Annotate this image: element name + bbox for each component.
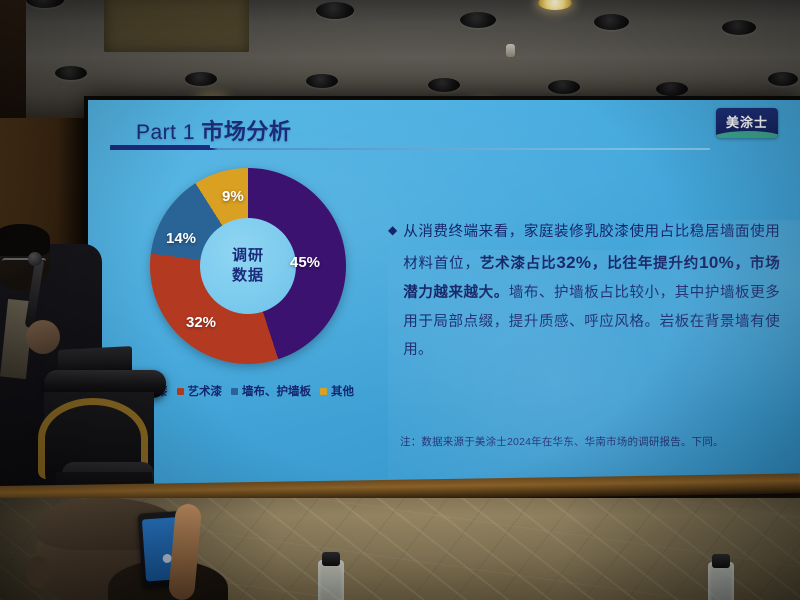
legend-item: 墙布、护墙板 — [231, 383, 311, 399]
legend-swatch-icon — [320, 388, 327, 395]
slice-label-1: 32% — [186, 314, 216, 331]
downlight-icon — [26, 0, 64, 8]
downlight-icon — [428, 78, 460, 92]
body-text-segment: 比往年提升约 — [607, 256, 699, 272]
ceiling-access-panel — [104, 0, 249, 52]
ceiling-edge-left — [0, 0, 26, 128]
body-text-segment: ， — [591, 256, 607, 272]
downlight-icon — [460, 12, 496, 28]
speaker-hand — [26, 320, 60, 354]
logo-swoosh-icon — [716, 131, 778, 138]
downlight-icon — [316, 2, 354, 19]
legend-label: 墙布、护墙板 — [242, 383, 311, 399]
bottle-cap — [322, 552, 340, 566]
downlight-icon — [594, 14, 629, 30]
bullet-diamond-icon: ◆ — [388, 221, 397, 364]
downlight-icon — [55, 66, 87, 80]
microphone-head-icon — [28, 252, 42, 266]
slice-label-3: 9% — [222, 188, 244, 205]
legend-item: 其他 — [320, 383, 354, 399]
downlight-icon — [538, 0, 572, 10]
downlight-icon — [722, 20, 756, 35]
body-text-block: ◆ 从消费终端来看，家庭装修乳胶漆使用占比稳居墙面使用材料首位，艺术漆占比32%… — [388, 218, 780, 364]
page-title-part: Part 1 — [136, 121, 195, 144]
donut-center-label: 调研 数据 — [200, 218, 296, 314]
page-title-cn: 市场分析 — [201, 119, 291, 144]
brand-logo: 美涂士 — [716, 108, 778, 138]
body-text-segment: 10% — [699, 253, 734, 272]
body-text-segment: 艺术漆占比 — [480, 256, 557, 272]
title-underline-accent — [110, 145, 210, 150]
speaker-hair — [0, 224, 50, 256]
body-text-segment: 32% — [556, 253, 591, 272]
water-bottle — [318, 560, 344, 600]
legend-item: 艺术漆 — [177, 383, 223, 399]
downlight-icon — [656, 82, 688, 96]
slice-label-0: 45% — [290, 254, 320, 271]
donut-center-line-1: 调研 — [232, 246, 264, 266]
audience-ear — [26, 556, 50, 588]
downlight-icon — [185, 72, 217, 86]
page-title: Part 1 市场分析 — [136, 114, 291, 146]
logo-text: 美涂士 — [716, 112, 778, 131]
downlight-icon — [768, 72, 798, 86]
downlight-icon — [548, 80, 580, 94]
body-paragraph: 从消费终端来看，家庭装修乳胶漆使用占比稳居墙面使用材料首位，艺术漆占比32%，比… — [403, 218, 780, 364]
donut-chart: 调研 数据 45% 32% 14% 9% — [150, 168, 346, 364]
legend-label: 其他 — [331, 383, 354, 399]
legend-label: 艺术漆 — [188, 383, 223, 399]
legend-swatch-icon — [177, 388, 184, 395]
projection-screen: Part 1 市场分析 美涂士 调研 数据 45% 32% 14% 9% 乳胶漆… — [88, 100, 800, 490]
donut-center-line-2: 数据 — [232, 266, 264, 286]
downlight-icon — [306, 74, 338, 88]
legend-swatch-icon — [231, 388, 238, 395]
bottle-cap — [712, 554, 730, 568]
body-text-segment: ， — [734, 256, 750, 272]
ceiling-sensor-icon — [506, 44, 515, 57]
photo-scene: Part 1 市场分析 美涂士 调研 数据 45% 32% 14% 9% 乳胶漆… — [0, 0, 800, 600]
footnote: 注：数据来源于美涂士2024年在华东、华南市场的调研报告。下同。 — [400, 434, 790, 449]
slice-label-2: 14% — [166, 230, 196, 247]
